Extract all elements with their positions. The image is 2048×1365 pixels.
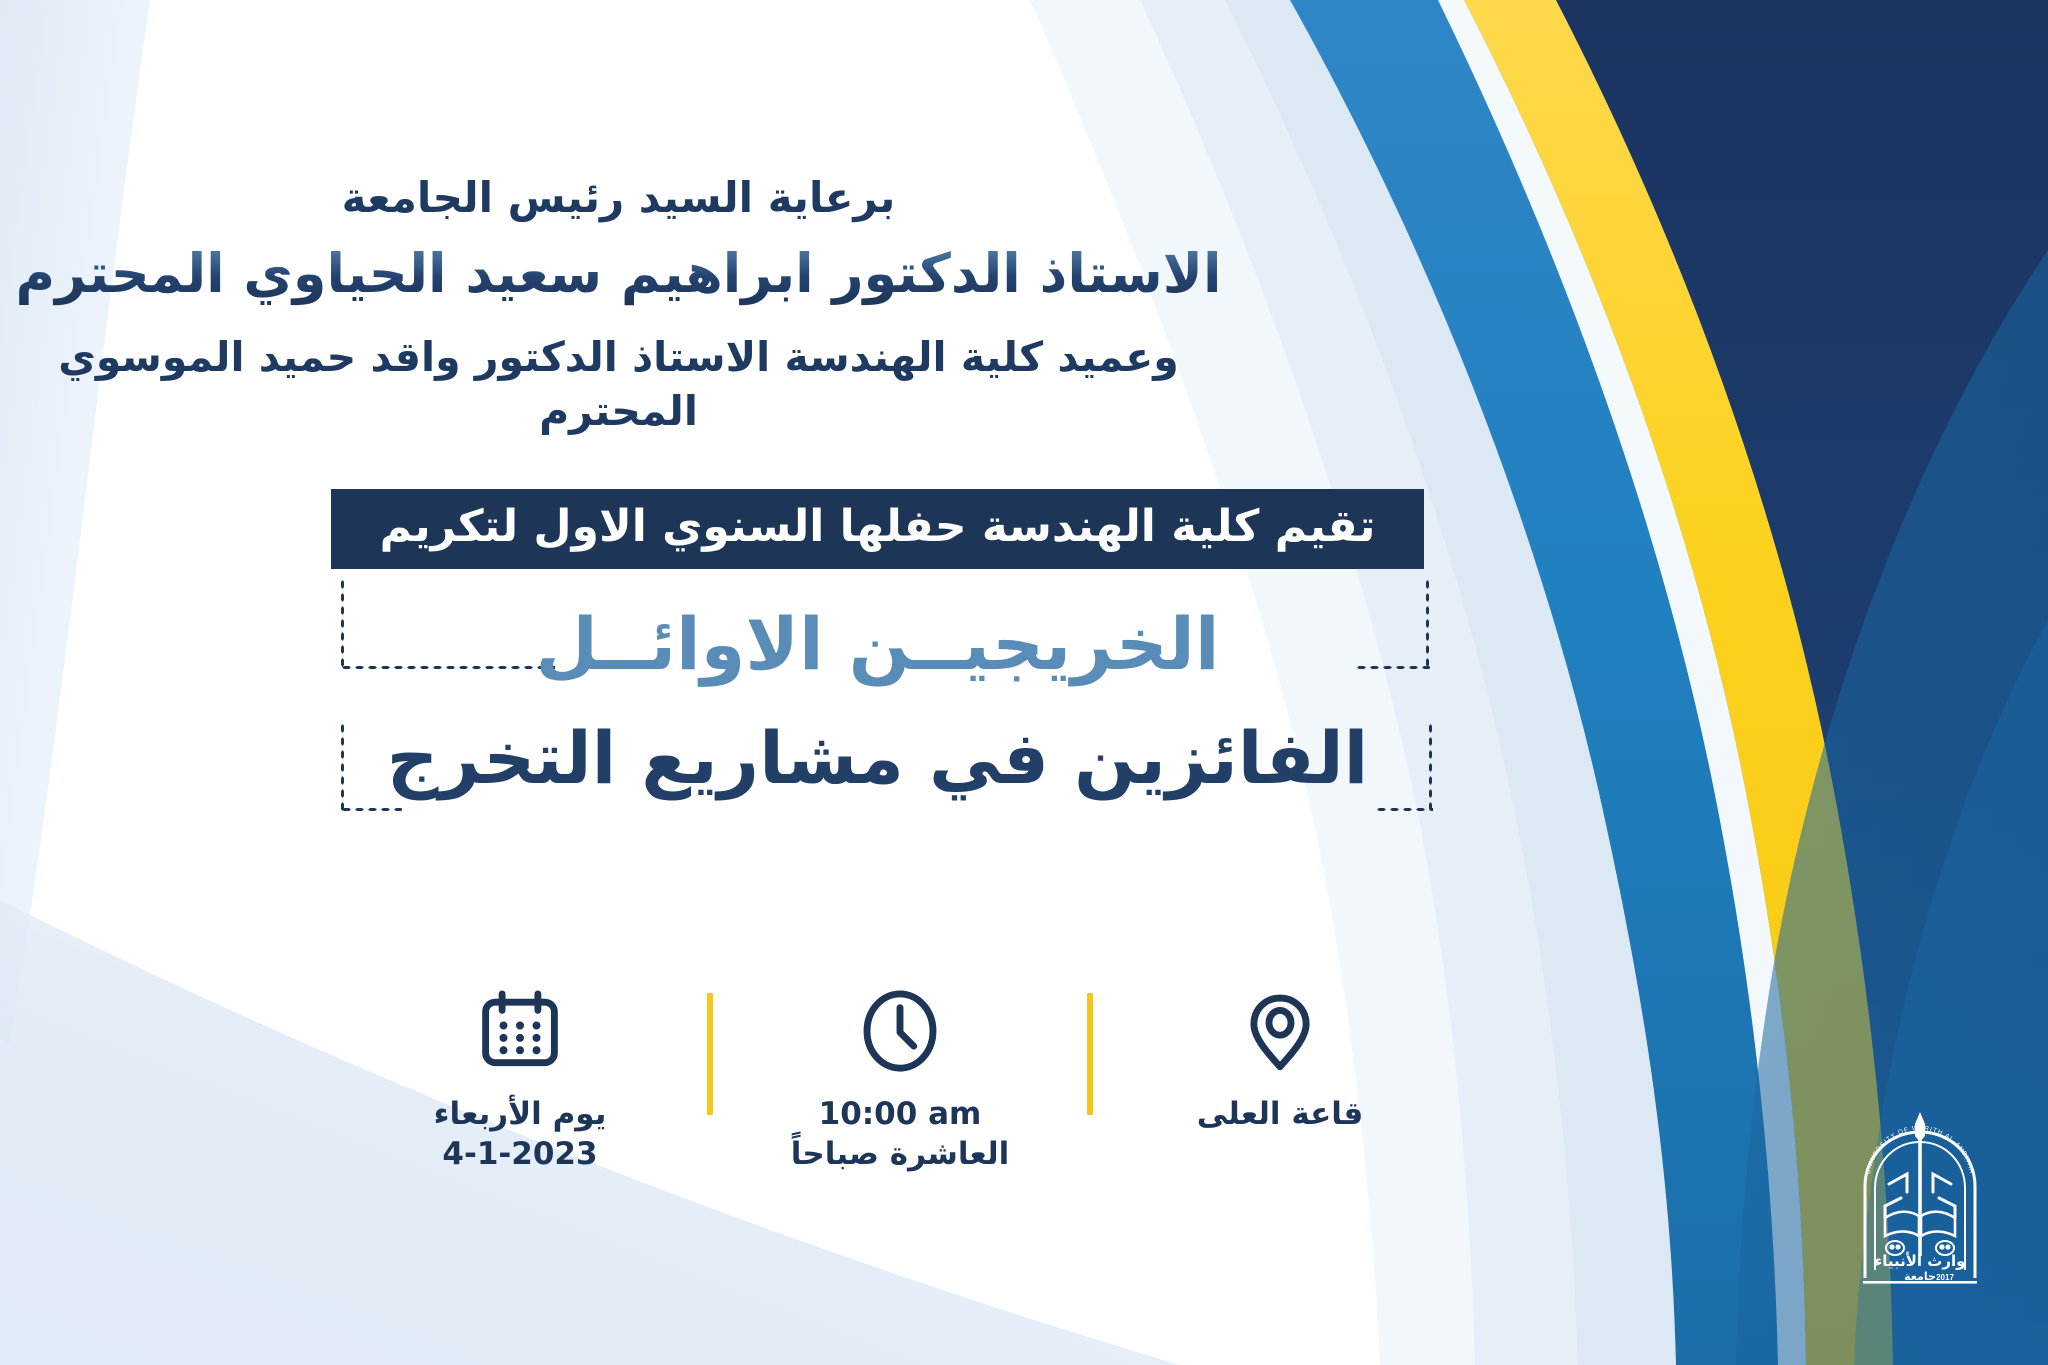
map-pin-icon [1236,985,1324,1077]
detail-location-text: قاعة العلى [1197,1095,1364,1135]
ceremony-banner-text: تقيم كلية الهندسة حفلها السنوي الاول لتك… [380,505,1376,553]
detail-time-text: 10:00 am العاشرة صباحاً [791,1095,1010,1174]
event-details-row: يوم الأربعاء 4-1-2023 10:00 am العاشرة ص… [370,985,1430,1205]
detail-date: يوم الأربعاء 4-1-2023 [370,985,670,1174]
logo-arabic-text: وارث الأنبياء [1875,1252,1966,1270]
event-poster: برعاية السيد رئيس الجامعة الاستاذ الدكتو… [0,0,2048,1365]
clock-icon [856,985,944,1077]
detail-date-day: يوم الأربعاء [434,1095,607,1135]
detail-date-value: 4-1-2023 [434,1135,607,1175]
dean-line: وعميد كلية الهندسة الاستاذ الدكتور واقد … [0,330,1237,438]
president-name: الاستاذ الدكتور ابراهيم سعيد الحياوي الم… [0,240,1237,308]
logo-year: 2017 [1936,1273,1954,1282]
detail-date-text: يوم الأربعاء 4-1-2023 [434,1095,607,1174]
detail-time-value: 10:00 am [791,1095,1010,1135]
ceremony-banner: تقيم كلية الهندسة حفلها السنوي الاول لتك… [331,489,1424,569]
detail-time-arabic: العاشرة صباحاً [791,1135,1010,1175]
detail-location-value: قاعة العلى [1197,1095,1364,1135]
headline-top-graduates: الخريجيــن الاوائــل [331,608,1424,680]
detail-divider-left [1087,993,1093,1115]
patronage-line: برعاية السيد رئيس الجامعة [0,172,1237,225]
headline-project-winners: الفائزين في مشاريع التخرج [331,722,1424,794]
detail-location: قاعة العلى [1130,985,1430,1135]
detail-time: 10:00 am العاشرة صباحاً [750,985,1050,1174]
calendar-icon [476,985,564,1077]
university-logo: UNIVERSITY OF WARITH AL-ANBIYAA [1845,1110,1995,1285]
detail-divider-right [707,993,713,1115]
